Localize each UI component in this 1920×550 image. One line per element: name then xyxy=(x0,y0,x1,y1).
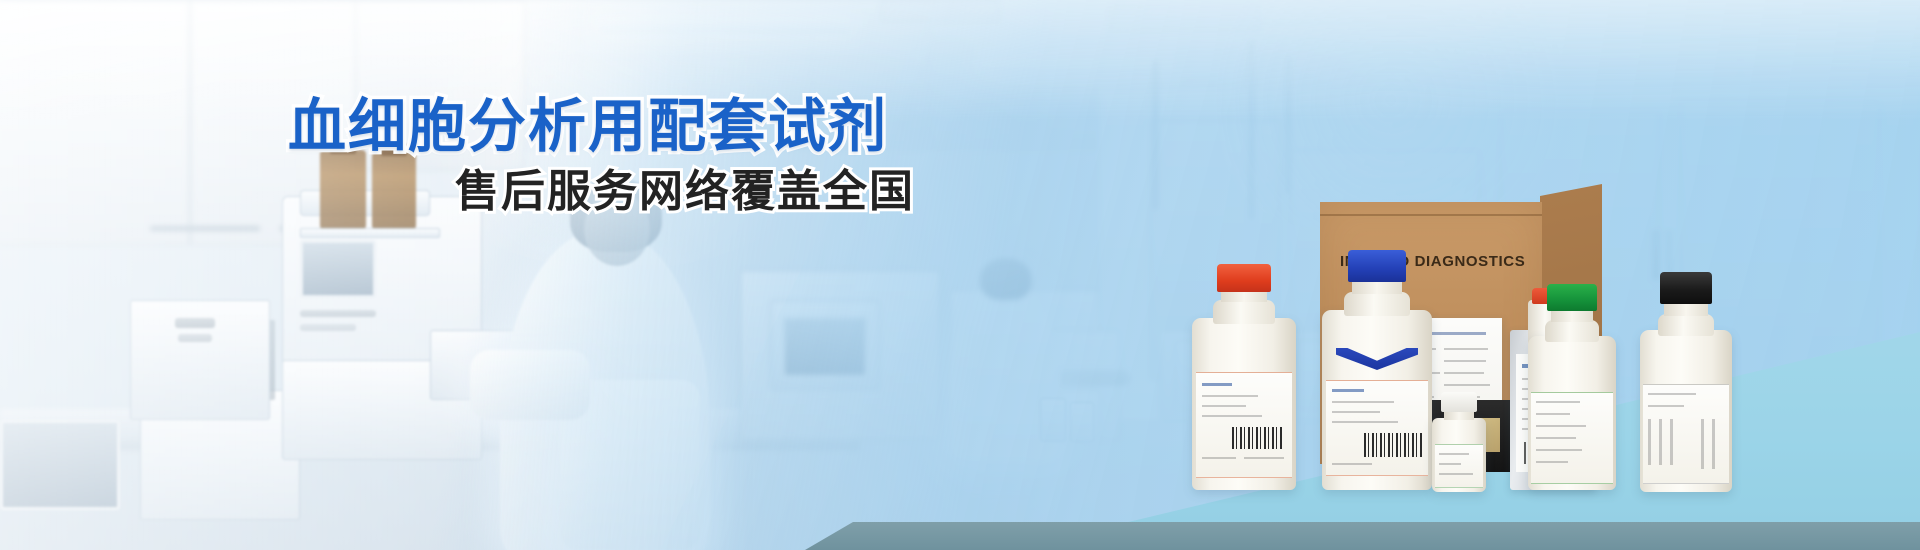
sheet-line xyxy=(1444,360,1486,362)
bottle-cap-red xyxy=(1217,264,1271,292)
reagent-bottle-green xyxy=(1528,336,1616,490)
label-line xyxy=(1202,415,1262,417)
sheet-line xyxy=(1444,384,1490,386)
bottle-shoulder xyxy=(1213,300,1275,324)
label-line xyxy=(1536,425,1586,427)
label-line xyxy=(1439,453,1469,455)
label-line xyxy=(1439,473,1473,475)
bottle-shoulder xyxy=(1545,320,1599,342)
headline-block: 血细胞分析用配套试剂 xyxy=(288,98,888,156)
label-line xyxy=(1536,449,1582,451)
label-barcode xyxy=(1364,433,1422,457)
bottle-shoulder xyxy=(1344,292,1410,316)
bottle-neck xyxy=(1664,302,1708,316)
reagent-bottle-small xyxy=(1432,418,1486,492)
reagent-bottle-black xyxy=(1640,330,1732,492)
label-line xyxy=(1202,405,1246,407)
label-line xyxy=(1648,405,1684,407)
bottle-cap-blue xyxy=(1348,250,1406,282)
label-line xyxy=(1332,411,1380,413)
hero-banner: IN VITRO DIAGNOSTICS xyxy=(0,0,1920,550)
label-line xyxy=(1648,393,1696,395)
reagent-bottle-red xyxy=(1192,318,1296,490)
product-group: IN VITRO DIAGNOSTICS xyxy=(0,0,1920,550)
label-vertical-line xyxy=(1701,419,1704,469)
page-subtitle: 售后服务网络覆盖全国 xyxy=(455,170,915,214)
bottle-label xyxy=(1643,384,1729,484)
vial-cap-white xyxy=(1441,392,1477,412)
label-line xyxy=(1332,463,1372,465)
label-vertical-line xyxy=(1670,419,1673,465)
sheet-line xyxy=(1444,372,1484,374)
label-line xyxy=(1332,401,1394,403)
label-line xyxy=(1244,457,1284,459)
bottle-label xyxy=(1531,392,1613,484)
subheadline-block: 售后服务网络覆盖全国 xyxy=(455,170,915,214)
vial-label xyxy=(1435,444,1483,488)
carton-flap-line xyxy=(1320,214,1542,216)
label-vertical-line xyxy=(1659,419,1662,465)
label-line xyxy=(1536,401,1580,403)
sheet-line xyxy=(1444,348,1488,350)
page-title: 血细胞分析用配套试剂 xyxy=(288,98,888,156)
label-vertical-line xyxy=(1712,419,1715,469)
reagent-bottle-blue xyxy=(1322,310,1432,490)
label-line xyxy=(1536,413,1570,415)
bottle-cap-black xyxy=(1660,272,1712,304)
bottle-label xyxy=(1326,380,1428,476)
label-line xyxy=(1439,463,1461,465)
label-brand-line xyxy=(1332,389,1364,392)
label-line xyxy=(1332,421,1398,423)
bottle-shoulder xyxy=(1658,314,1714,336)
label-line xyxy=(1536,437,1576,439)
bottle-label xyxy=(1196,372,1292,478)
label-line xyxy=(1202,457,1236,459)
label-barcode xyxy=(1232,427,1284,449)
label-brand-line xyxy=(1202,383,1232,386)
bottle-cap-green xyxy=(1547,284,1597,311)
label-vertical-line xyxy=(1648,419,1651,465)
label-line xyxy=(1202,395,1258,397)
label-line xyxy=(1536,461,1568,463)
